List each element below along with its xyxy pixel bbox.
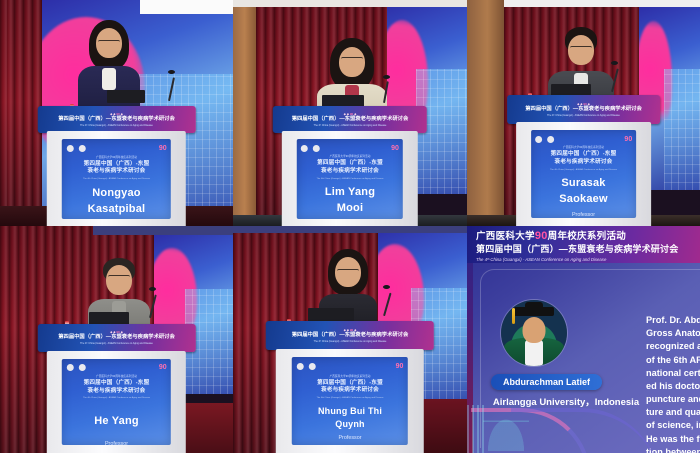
podium-banner-cn: 第四届中国（广西）—东盟衰老与疾病学术研讨会 — [292, 333, 409, 339]
podium-banner-cn: 第四届中国（广西）—东盟衰老与疾病学术研讨会 — [58, 117, 175, 123]
speaker-glasses — [570, 46, 592, 52]
bio-line: Prof. Dr. Abdurach — [646, 314, 700, 327]
podium-banner: ◆ ◆ 90 ◆ 第四届中国（广西）—东盟衰老与疾病学术研讨会 The 4ᵗʰ … — [507, 95, 661, 124]
nameplate-title-cn-1: 第四届中国（广西）-东盟 — [317, 160, 383, 168]
podium-banner-logos: ◆ ◆ 90 ◆ — [110, 330, 123, 334]
auditorium-scene: ◆ ◆ 90 ◆ 第四届中国（广西）—东盟衰老与疾病学术研讨会 The 4ᵗʰ … — [0, 226, 233, 453]
nameplate-title-en: The 4th China (Guangxi) - ASEAN Conferen… — [550, 169, 617, 171]
speaker-name-line-2: Mooi — [337, 202, 363, 215]
auditorium-scene: ◆ ◆ 90 ◆ 第四届中国（广西）—东盟衰老与疾病学术研讨会 The 4ᵗʰ … — [233, 226, 467, 453]
podium-banner: ◆ ◆ 90 ◆ 第四届中国（广西）—东盟衰老与疾病学术研讨会 The 4ᵗʰ … — [37, 106, 195, 132]
speaker-photo-collage: ◆ ◆ 90 ◆ 第四届中国（广西）—东盟衰老与疾病学术研讨会 The 4ᵗʰ … — [0, 0, 700, 453]
nameplate-title-cn-2: 衰老与疾病学术研讨会 — [88, 388, 146, 396]
conference-seal-icon — [78, 364, 85, 371]
nameplate-title-en: The 4th China (Guangxi) - ASEAN Conferen… — [83, 178, 150, 180]
ceiling-wall — [233, 0, 467, 7]
nameplate-title-cn-1: 第四届中国（广西）-东盟 — [317, 380, 383, 388]
slide-header-line-3: The 4ᵗʰ China (Guangxi) - ASEAN Conferen… — [476, 257, 700, 262]
university-seal-icon — [66, 364, 73, 371]
gown-sash — [525, 340, 543, 366]
podium-banner: ◆ ◆ 90 ◆ 第四届中国（广西）—东盟衰老与疾病学术研讨会 The 4ᵗʰ … — [266, 321, 434, 350]
stage-curtain-edge — [0, 0, 7, 226]
side-wall — [233, 0, 256, 226]
anniversary-90-icon: 90 — [159, 364, 167, 371]
speaker-nameplate: 90 广西医科大学90周年校庆系列活动 第四届中国（广西）-东盟 衰老与疾病学术… — [531, 130, 637, 218]
speaker-title: Professor — [572, 212, 595, 218]
podium-banner: ◆ ◆ 90 ◆ 第四届中国（广西）—东盟衰老与疾病学术研讨会 The 4ᵗʰ … — [273, 106, 427, 132]
speaker-nameplate: 90 广西医科大学90周年校庆系列活动 第四届中国（广西）-东盟 衰老与疾病学术… — [292, 357, 408, 445]
side-wall — [467, 0, 504, 226]
nameplate-logo-row: 90 — [301, 145, 399, 152]
speaker-name-line-1: Surasak — [561, 177, 605, 190]
slide-speaker-affiliation: Airlangga University，Indonesia — [481, 394, 651, 408]
podium: ◆ ◆ 90 ◆ 第四届中国（广西）—东盟衰老与疾病学术研讨会 The 4ᵗʰ … — [507, 95, 661, 226]
nameplate-title-en: The 4th China (Guangxi) - ASEAN Conferen… — [317, 397, 384, 399]
bio-line: of the 6th APICA C — [646, 354, 700, 367]
podium-front: 90 广西医科大学90周年校庆系列活动 第四届中国（广西）-东盟 衰老与疾病学术… — [516, 122, 651, 226]
anniversary-90-icon: 90 — [396, 363, 404, 370]
bio-line: He was the first to — [646, 433, 700, 446]
podium: ◆ ◆ 90 ◆ 第四届中国（广西）—东盟衰老与疾病学术研讨会 The 4ᵗʰ … — [273, 106, 427, 226]
slide-header-line-2: 第四届中国（广西）—东盟衰老与疾病学术研讨会 — [476, 244, 700, 255]
conference-seal-icon — [309, 363, 316, 370]
auditorium-scene: ◆ ◆ 90 ◆ 第四届中国（广西）—东盟衰老与疾病学术研讨会 The 4ᵗʰ … — [233, 0, 467, 226]
conference-seal-icon — [78, 145, 85, 152]
laptop — [107, 90, 145, 103]
nameplate-title-cn-2: 衰老与疾病学术研讨会 — [321, 387, 379, 395]
nameplate-title-cn-2: 衰老与疾病学术研讨会 — [321, 168, 379, 176]
auditorium-scene: ◆ ◆ 90 ◆ 第四届中国（广西）—东盟衰老与疾病学术研讨会 The 4ᵗʰ … — [0, 0, 233, 226]
photo-panel-surasak-saokaew: ◆ ◆ 90 ◆ 第四届中国（广西）—东盟衰老与疾病学术研讨会 The 4ᵗʰ … — [467, 0, 700, 226]
speaker-title: Professor — [338, 435, 361, 441]
podium-banner-logos: ◆ ◆ 90 ◆ — [110, 112, 123, 116]
slide-header-prefix: 广西医科大学 — [476, 231, 535, 242]
podium-banner-cn: 第四届中国（广西）—东盟衰老与疾病学术研讨会 — [525, 107, 642, 113]
podium-front: 90 广西医科大学90周年校庆系列活动 第四届中国（广西）-东盟 衰老与疾病学术… — [282, 131, 418, 226]
graduation-cap-icon — [514, 307, 554, 316]
speaker-glasses — [337, 269, 359, 275]
podium: ◆ ◆ 90 ◆ 第四届中国（广西）—东盟衰老与疾病学术研讨会 The 4ᵗʰ … — [37, 106, 195, 226]
bio-line: recognized as the t — [646, 340, 700, 353]
ceiling-wall — [93, 226, 233, 235]
podium-banner-logos: ◆ ◆ 90 ◆ — [344, 112, 357, 116]
speaker-nameplate: 90 广西医科大学90周年校庆系列活动 第四届中国（广西）-东盟 衰老与疾病学术… — [62, 139, 171, 219]
nameplate-logo-row: 90 — [66, 364, 166, 371]
nameplate-title-en: The 4th China (Guangxi) - ASEAN Conferen… — [317, 178, 384, 180]
photo-panel-nongyao-kasatpibal: ◆ ◆ 90 ◆ 第四届中国（广西）—东盟衰老与疾病学术研讨会 The 4ᵗʰ … — [0, 0, 233, 226]
speaker-portrait — [501, 300, 567, 366]
nameplate-subheader-cn: 广西医科大学90周年校庆系列活动 — [563, 145, 604, 149]
ceiling-wall — [140, 0, 233, 14]
university-seal-icon — [535, 136, 542, 143]
photo-panel-lim-yang-mooi: ◆ ◆ 90 ◆ 第四届中国（广西）—东盟衰老与疾病学术研讨会 The 4ᵗʰ … — [233, 0, 467, 226]
speaker-glasses — [108, 275, 130, 281]
laptop — [308, 308, 354, 322]
photo-panel-slide-abdurachman-latief: 广西医科大学90周年校庆系列活动 第四届中国（广西）—东盟衰老与疾病学术研讨会 … — [467, 226, 700, 453]
speaker-nameplate: 90 广西医科大学90周年校庆系列活动 第四届中国（广西）-东盟 衰老与疾病学术… — [297, 139, 403, 219]
university-seal-icon — [297, 363, 304, 370]
podium-banner-en: The 4ᵗʰ China (Guangxi) - ASEAN Conferen… — [80, 124, 153, 127]
podium-banner-cn: 第四届中国（广西）—东盟衰老与疾病学术研讨会 — [58, 335, 175, 341]
speaker-name-line-1: He Yang — [94, 415, 139, 428]
slide-header-line-1: 广西医科大学90周年校庆系列活动 — [476, 230, 700, 243]
nameplate-subheader-cn: 广西医科大学90周年校庆系列活动 — [330, 374, 371, 378]
bio-line: tion between mind — [646, 446, 700, 453]
podium-banner-cn: 第四届中国（广西）—东盟衰老与疾病学术研讨会 — [292, 117, 409, 123]
anniversary-90-icon: 90 — [624, 136, 632, 143]
cap-tassel-icon — [512, 308, 515, 324]
decorative-arc-secondary-icon — [511, 408, 661, 453]
anniversary-90-icon: 90 — [391, 145, 399, 152]
conference-seal-icon — [313, 145, 320, 152]
nameplate-logo-row: 90 — [535, 136, 632, 143]
podium-banner-en: The 4ᵗʰ China (Guangxi) - ASEAN Conferen… — [547, 114, 620, 117]
slide-header-suffix: 周年校庆系列活动 — [548, 231, 626, 242]
anniversary-90-icon: 90 — [159, 145, 167, 152]
slide-speaker-name-badge: Abdurachman Latief — [491, 374, 602, 390]
microphone-head — [168, 70, 175, 74]
presentation-slide: 广西医科大学90周年校庆系列活动 第四届中国（广西）—东盟衰老与疾病学术研讨会 … — [467, 226, 700, 453]
speaker-name-line-1: Nongyao — [92, 187, 140, 200]
bio-line: Gross Anatomy. He — [646, 327, 700, 340]
nameplate-title-cn-2: 衰老与疾病学术研讨会 — [555, 159, 613, 167]
speaker-name-line-1: Nhung Bui Thi — [318, 406, 382, 416]
bio-line: of science, inspired — [646, 419, 700, 432]
slide-header: 广西医科大学90周年校庆系列活动 第四届中国（广西）—东盟衰老与疾病学术研讨会 … — [467, 226, 700, 263]
microphone-head — [383, 285, 390, 289]
speaker-name-line-2: Quynh — [335, 419, 365, 429]
university-seal-icon — [301, 145, 308, 152]
podium-banner-en: The 4ᵗʰ China (Guangxi) - ASEAN Conferen… — [80, 342, 153, 345]
podium-banner-en: The 4ᵗʰ China (Guangxi) - ASEAN Conferen… — [314, 340, 387, 343]
nameplate-title-en: The 4th China (Guangxi) - ASEAN Conferen… — [83, 397, 150, 399]
speaker-glasses — [341, 57, 363, 63]
podium-front: 90 广西医科大学90周年校庆系列活动 第四届中国（广西）-东盟 衰老与疾病学术… — [47, 351, 186, 453]
portrait-face — [523, 317, 546, 343]
bio-line: ture and quantum — [646, 406, 700, 419]
nameplate-title-cn-1: 第四届中国（广西）-东盟 — [551, 151, 617, 159]
bio-line: ed his doctoral pro — [646, 380, 700, 393]
photo-panel-nhung-bui-thi-quynh: ◆ ◆ 90 ◆ 第四届中国（广西）—东盟衰老与疾病学术研讨会 The 4ᵗʰ … — [233, 226, 467, 453]
auditorium-scene: ◆ ◆ 90 ◆ 第四届中国（广西）—东盟衰老与疾病学术研讨会 The 4ᵗʰ … — [467, 0, 700, 226]
podium: ◆ ◆ 90 ◆ 第四届中国（广西）—东盟衰老与疾病学术研讨会 The 4ᵗʰ … — [37, 324, 195, 453]
nameplate-title-cn-2: 衰老与疾病学术研讨会 — [88, 168, 146, 176]
podium-front: 90 广西医科大学90周年校庆系列活动 第四届中国（广西）-东盟 衰老与疾病学术… — [47, 131, 186, 226]
nameplate-subheader-cn: 广西医科大学90周年校庆系列活动 — [330, 154, 371, 158]
speaker-glasses — [98, 40, 120, 46]
pagoda-illustration-icon — [483, 411, 529, 451]
speaker-title: Professor — [105, 441, 128, 445]
nameplate-subheader-cn: 广西医科大学90周年校庆系列活动 — [96, 374, 137, 378]
speaker-portrait-wrap — [501, 300, 567, 366]
microphone-head — [383, 75, 390, 79]
podium: ◆ ◆ 90 ◆ 第四届中国（广西）—东盟衰老与疾病学术研讨会 The 4ᵗʰ … — [266, 321, 434, 453]
slide-speaker-bio: Prof. Dr. Abdurach Gross Anatomy. He rec… — [646, 314, 700, 453]
podium-banner: ◆ ◆ 90 ◆ 第四届中国（广西）—东盟衰老与疾病学术研讨会 The 4ᵗʰ … — [37, 324, 195, 352]
speaker-name-line-2: Saokaew — [559, 193, 607, 206]
anniversary-90-icon: 90 — [535, 230, 548, 242]
nameplate-logo-row: 90 — [297, 363, 404, 370]
nameplate-logo-row: 90 — [66, 145, 166, 152]
speaker-name-line-1: Lim Yang — [325, 186, 375, 199]
nameplate-subheader-cn: 广西医科大学90周年校庆系列活动 — [96, 155, 137, 159]
podium-front: 90 广西医科大学90周年校庆系列活动 第四届中国（广西）-东盟 衰老与疾病学术… — [276, 349, 424, 453]
podium-banner-en: The 4ᵗʰ China (Guangxi) - ASEAN Conferen… — [314, 124, 387, 127]
speaker-nameplate: 90 广西医科大学90周年校庆系列活动 第四届中国（广西）-东盟 衰老与疾病学术… — [62, 359, 171, 446]
ceiling-wall — [233, 226, 467, 233]
speaker-name-line-2: Kasatpibal — [88, 203, 146, 216]
bio-line: puncture and laser — [646, 393, 700, 406]
skyline-illustration-icon — [467, 405, 485, 453]
bio-line: national certificatio — [646, 367, 700, 380]
photo-panel-he-yang: ◆ ◆ 90 ◆ 第四届中国（广西）—东盟衰老与疾病学术研讨会 The 4ᵗʰ … — [0, 226, 233, 453]
speaker-shirt — [102, 68, 116, 90]
conference-seal-icon — [547, 136, 554, 143]
university-seal-icon — [66, 145, 73, 152]
ceiling-wall — [504, 0, 700, 7]
